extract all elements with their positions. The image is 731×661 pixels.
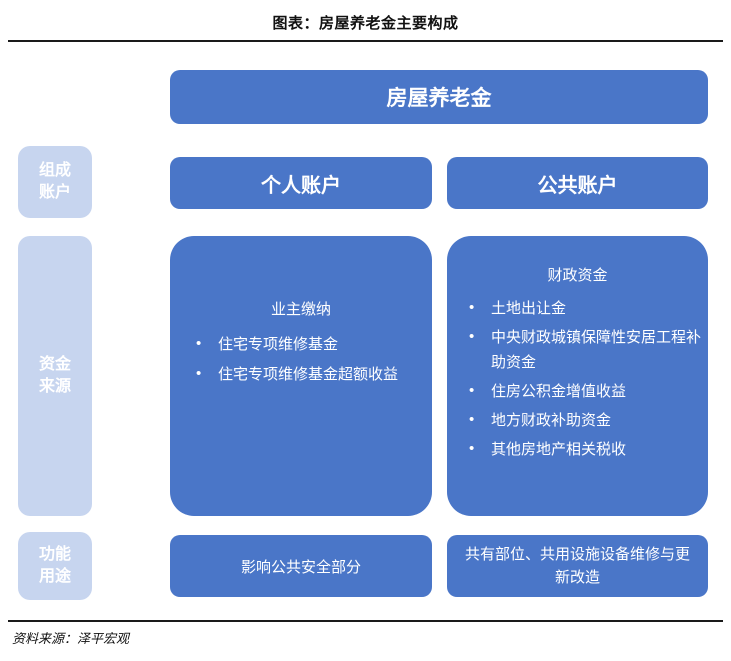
list-item: 住房公积金增值收益 xyxy=(465,380,708,404)
node-public-account: 公共账户 xyxy=(447,157,708,209)
top-divider xyxy=(8,40,723,42)
public-funding-list: 土地出让金 中央财政城镇保障性安居工程补助资金 住房公积金增值收益 地方财政补助… xyxy=(465,297,708,463)
personal-funding-list: 住宅专项维修基金 住宅专项维修基金超额收益 xyxy=(192,333,432,388)
category-label-composition: 组成 账户 xyxy=(18,146,92,218)
chart-figure: 图表：房屋养老金主要构成 组成 账户 资金 来源 功能 用途 房屋养老金 个人账… xyxy=(0,0,731,661)
category-label-usage-line1: 功能 xyxy=(39,546,71,563)
list-item: 住宅专项维修基金 xyxy=(192,333,432,357)
node-public-function: 共有部位、共用设施设备维修与更新改造 xyxy=(447,535,708,597)
list-item: 其他房地产相关税收 xyxy=(465,438,708,462)
personal-funding-heading: 业主缴纳 xyxy=(170,298,432,319)
node-personal-funding-sources: 业主缴纳 住宅专项维修基金 住宅专项维修基金超额收益 xyxy=(170,236,432,516)
public-funding-heading: 财政资金 xyxy=(447,264,708,285)
node-personal-function: 影响公共安全部分 xyxy=(170,535,432,597)
source-note: 资料来源：泽平宏观 xyxy=(12,628,129,647)
category-label-funding-line1: 资金 xyxy=(39,356,71,373)
list-item: 土地出让金 xyxy=(465,297,708,321)
list-item: 中央财政城镇保障性安居工程补助资金 xyxy=(465,326,708,375)
bottom-divider xyxy=(8,620,723,622)
node-personal-account: 个人账户 xyxy=(170,157,432,209)
category-label-composition-line2: 账户 xyxy=(39,184,71,201)
figure-title: 图表：房屋养老金主要构成 xyxy=(0,12,731,33)
category-label-funding: 资金 来源 xyxy=(18,236,92,516)
list-item: 住宅专项维修基金超额收益 xyxy=(192,363,432,387)
category-label-funding-line2: 来源 xyxy=(39,378,71,395)
list-item: 地方财政补助资金 xyxy=(465,409,708,433)
category-label-usage-line2: 用途 xyxy=(39,568,71,585)
category-label-composition-line1: 组成 xyxy=(39,162,71,179)
node-public-funding-sources: 财政资金 土地出让金 中央财政城镇保障性安居工程补助资金 住房公积金增值收益 地… xyxy=(447,236,708,516)
node-root: 房屋养老金 xyxy=(170,70,708,124)
category-label-usage: 功能 用途 xyxy=(18,532,92,600)
